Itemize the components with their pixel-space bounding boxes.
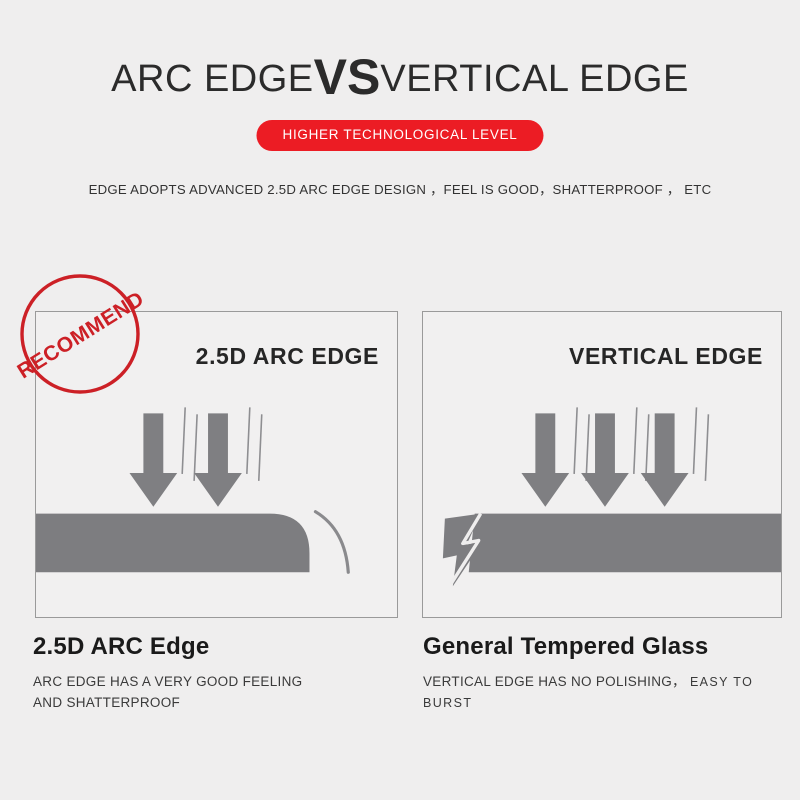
glass-slab-arc (36, 514, 309, 573)
glass-slab-flat (469, 514, 781, 573)
vertical-edge-diagram (423, 312, 781, 617)
arc-curve-indicator (315, 512, 348, 573)
caption-line-1: VERTICAL EDGE HAS NO POLISHING， (423, 674, 686, 689)
title-vs: VS (314, 49, 381, 105)
caption-vertical-edge-body: VERTICAL EDGE HAS NO POLISHING， EASY TO … (423, 672, 793, 714)
pressure-arrow-icon (521, 407, 589, 506)
caption-vertical-edge-title: General Tempered Glass (423, 633, 793, 661)
caption-line-1: ARC EDGE HAS A VERY GOOD FEELING (33, 674, 302, 689)
pressure-arrow-icon (641, 407, 709, 506)
title-left-term: ARC EDGE (111, 58, 313, 100)
subtitle-text: EDGE ADOPTS ADVANCED 2.5D ARC EDGE DESIG… (0, 179, 800, 198)
caption-vertical-edge: General Tempered Glass VERTICAL EDGE HAS… (423, 633, 793, 713)
title-right-term: VERTICAL EDGE (380, 58, 688, 100)
caption-arc-edge-title: 2.5D ARC Edge (33, 633, 413, 661)
status-badge: HIGHER TECHNOLOGICAL LEVEL (256, 120, 543, 151)
recommend-stamp-icon: RECOMMEND (16, 270, 144, 398)
pressure-arrow-icon (581, 407, 649, 506)
caption-arc-edge: 2.5D ARC Edge ARC EDGE HAS A VERY GOOD F… (33, 633, 413, 713)
pressure-arrow-icon (194, 407, 262, 506)
pressure-arrow-icon (129, 407, 197, 506)
caption-arc-edge-body: ARC EDGE HAS A VERY GOOD FEELING AND SHA… (33, 672, 413, 714)
recommend-stamp: RECOMMEND (16, 270, 144, 398)
panel-vertical-edge: VERTICAL EDGE (422, 311, 782, 618)
infographic-root: ARC EDGEVSVERTICAL EDGE HIGHER TECHNOLOG… (0, 0, 800, 800)
page-title: ARC EDGEVSVERTICAL EDGE (0, 52, 800, 102)
caption-line-2: AND SHATTERPROOF (33, 693, 413, 714)
